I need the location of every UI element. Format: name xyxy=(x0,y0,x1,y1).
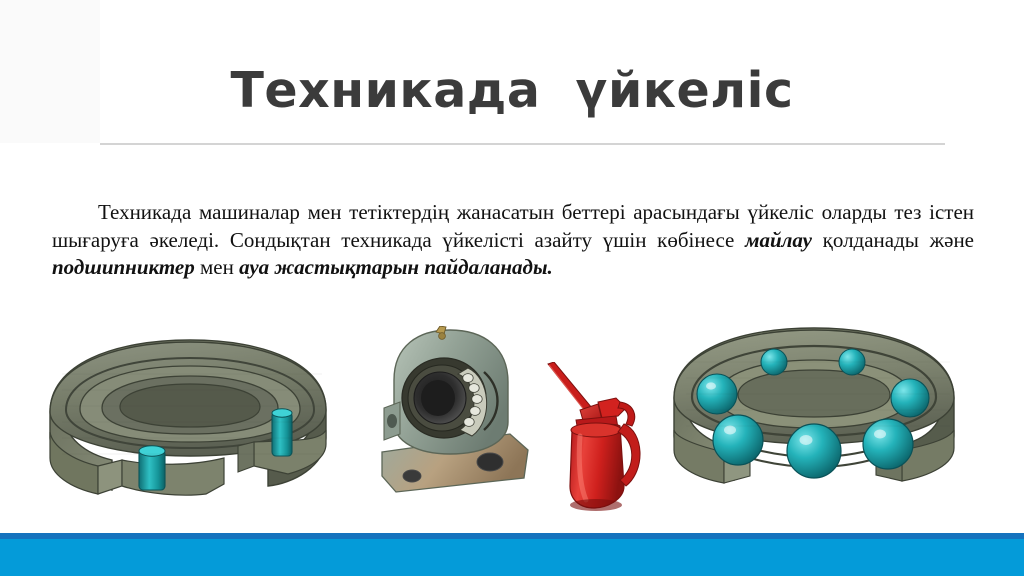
body-paragraph: Техникада машиналар мен тетіктердің жана… xyxy=(52,199,974,282)
body-emphasis-podshipnikter: подшипниктер xyxy=(52,255,195,279)
roller-element-front xyxy=(139,446,165,490)
title-divider xyxy=(100,143,945,145)
figure-ball-bearing xyxy=(662,318,962,498)
footer-bar-light xyxy=(0,539,1024,576)
figures-row xyxy=(0,312,1024,512)
body-emphasis-maylau: майлау xyxy=(745,228,812,252)
figure-roller-bearing xyxy=(42,334,332,510)
roller-element-right xyxy=(272,409,292,456)
body-emphasis-aua-jastyqtaryn: ауа жастықтарын пайдаланады. xyxy=(239,255,553,279)
figure-oil-can xyxy=(540,362,662,512)
slide: Техникада үйкеліс Техникада машиналар ме… xyxy=(0,0,1024,576)
page-title: Техникада үйкеліс xyxy=(0,62,1024,120)
title-block: Техникада үйкеліс xyxy=(0,62,1024,120)
body-text-part-4: мен xyxy=(195,255,239,279)
figure-pillow-block-bearing xyxy=(372,326,532,494)
body-text-part-3: және xyxy=(930,228,974,252)
body-text-part-2: қолданады xyxy=(812,228,930,252)
